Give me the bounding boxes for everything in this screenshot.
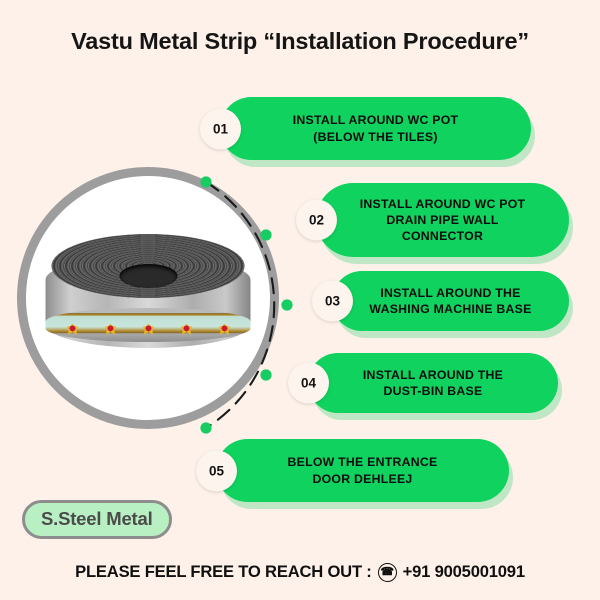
step-number-badge-04: 04 — [288, 363, 329, 404]
step-line: DOOR DEHLEEJ — [312, 472, 412, 486]
step-number-badge-05: 05 — [196, 450, 237, 491]
step-number-badge-03: 03 — [312, 281, 353, 322]
arc-dashed-path — [206, 182, 274, 428]
arc-dot-1 — [200, 176, 211, 187]
connector-arc — [10, 160, 300, 450]
step-item-05[interactable]: BELOW THE ENTRANCE DOOR DEHLEEJ 05 — [196, 439, 509, 502]
step-line: DUST-BIN BASE — [384, 384, 483, 398]
step-item-03[interactable]: INSTALL AROUND THE WASHING MACHINE BASE … — [312, 271, 569, 331]
page-title: Vastu Metal Strip “Installation Procedur… — [0, 28, 600, 55]
step-line: CONNECTOR — [402, 229, 483, 243]
phone-icon: ☎ — [378, 563, 397, 582]
step-line: INSTALL AROUND WC POT — [360, 197, 526, 211]
contact-bar: PLEASE FEEL FREE TO REACH OUT : ☎ +91 90… — [0, 562, 600, 582]
step-item-02[interactable]: INSTALL AROUND WC POT DRAIN PIPE WALL CO… — [296, 183, 569, 257]
infographic-canvas: Vastu Metal Strip “Installation Procedur… — [0, 0, 600, 600]
contact-cta-label: PLEASE FEEL FREE TO REACH OUT : — [75, 562, 372, 582]
arc-dot-5 — [200, 422, 211, 433]
arc-dot-2 — [260, 229, 271, 240]
step-line: WASHING MACHINE BASE — [369, 302, 531, 316]
step-pill-05[interactable]: BELOW THE ENTRANCE DOOR DEHLEEJ — [216, 439, 509, 502]
step-line: DRAIN PIPE WALL — [386, 213, 498, 227]
arc-dot-3 — [281, 299, 292, 310]
brand-badge: S.Steel Metal — [22, 500, 172, 539]
step-pill-04[interactable]: INSTALL AROUND THE DUST-BIN BASE — [308, 353, 558, 413]
step-number-badge-02: 02 — [296, 200, 337, 241]
arc-dot-4 — [260, 369, 271, 380]
step-item-01[interactable]: INSTALL AROUND WC POT (BELOW THE TILES) … — [200, 97, 531, 160]
contact-phone-number[interactable]: +91 9005001091 — [403, 562, 525, 582]
step-line: INSTALL AROUND WC POT — [293, 113, 459, 127]
step-line: INSTALL AROUND THE — [380, 286, 520, 300]
step-number-badge-01: 01 — [200, 108, 241, 149]
step-pill-02[interactable]: INSTALL AROUND WC POT DRAIN PIPE WALL CO… — [316, 183, 569, 257]
step-line: (BELOW THE TILES) — [313, 130, 437, 144]
step-pill-03[interactable]: INSTALL AROUND THE WASHING MACHINE BASE — [332, 271, 569, 331]
step-item-04[interactable]: INSTALL AROUND THE DUST-BIN BASE 04 — [288, 353, 558, 413]
step-line: BELOW THE ENTRANCE — [287, 455, 437, 469]
step-line: INSTALL AROUND THE — [363, 368, 503, 382]
step-pill-01[interactable]: INSTALL AROUND WC POT (BELOW THE TILES) — [220, 97, 531, 160]
